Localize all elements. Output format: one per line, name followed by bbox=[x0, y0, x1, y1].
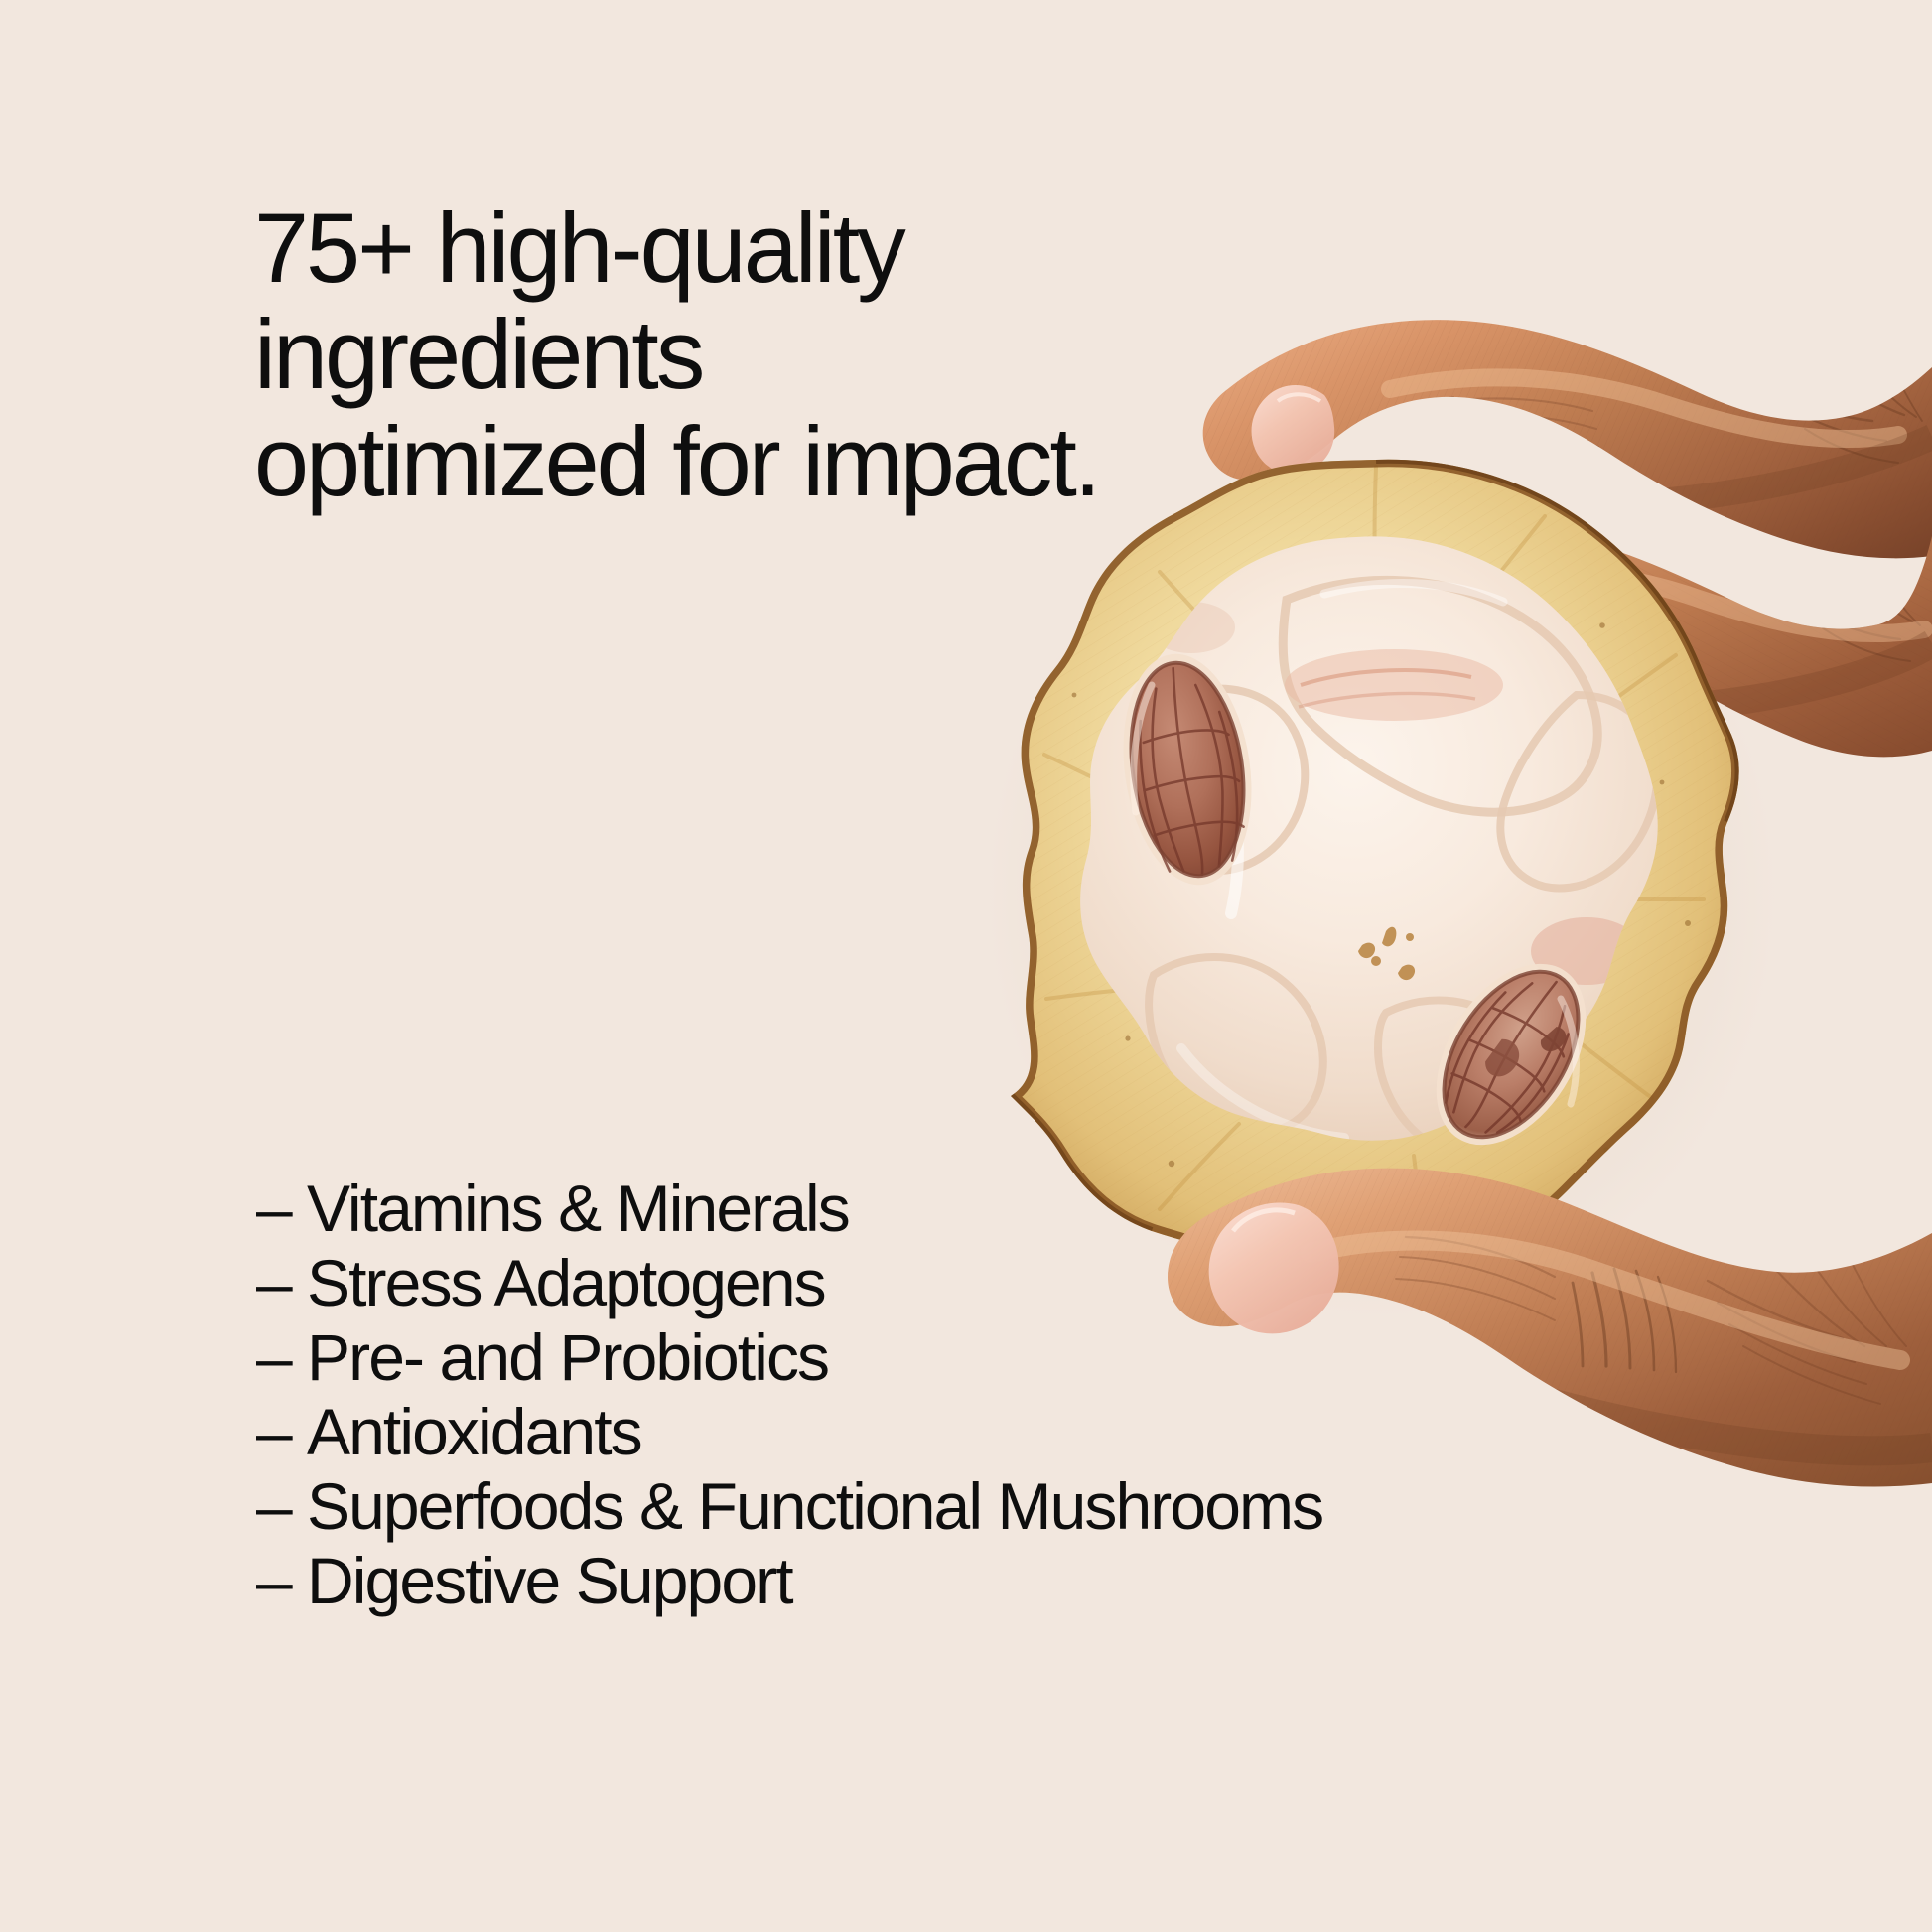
list-item-label: Pre- and Probiotics bbox=[307, 1320, 828, 1395]
ad-canvas: 75+ high-quality ingredients optimized f… bbox=[0, 0, 1932, 1932]
list-item-label: Stress Adaptogens bbox=[307, 1246, 825, 1320]
dash-bullet-icon: – bbox=[256, 1469, 307, 1544]
fingernail-front-lower bbox=[1239, 561, 1330, 653]
list-item-label: Digestive Support bbox=[307, 1544, 792, 1618]
dash-bullet-icon: – bbox=[256, 1544, 307, 1618]
dash-bullet-icon: – bbox=[256, 1320, 307, 1395]
dash-bullet-icon: – bbox=[256, 1246, 307, 1320]
list-item: – Vitamins & Minerals bbox=[256, 1172, 1845, 1246]
list-item: – Superfoods & Functional Mushrooms bbox=[256, 1469, 1845, 1544]
list-item: – Antioxidants bbox=[256, 1395, 1845, 1469]
list-item-label: Vitamins & Minerals bbox=[307, 1172, 849, 1246]
list-item-label: Antioxidants bbox=[307, 1395, 641, 1469]
list-item: – Pre- and Probiotics bbox=[256, 1320, 1845, 1395]
list-item: – Stress Adaptogens bbox=[256, 1246, 1845, 1320]
benefits-list: – Vitamins & Minerals – Stress Adaptogen… bbox=[256, 1172, 1845, 1618]
list-item: – Digestive Support bbox=[256, 1544, 1845, 1618]
page-title: 75+ high-quality ingredients optimized f… bbox=[254, 195, 1346, 514]
list-item-label: Superfoods & Functional Mushrooms bbox=[307, 1469, 1322, 1544]
fingertip-pad bbox=[1241, 595, 1322, 674]
cacao-seed-upper-left bbox=[1109, 645, 1265, 893]
upper-finger-front bbox=[1211, 496, 1932, 794]
dash-bullet-icon: – bbox=[256, 1172, 307, 1246]
cacao-seed-lower-right bbox=[1406, 937, 1617, 1172]
dash-bullet-icon: – bbox=[256, 1395, 307, 1469]
